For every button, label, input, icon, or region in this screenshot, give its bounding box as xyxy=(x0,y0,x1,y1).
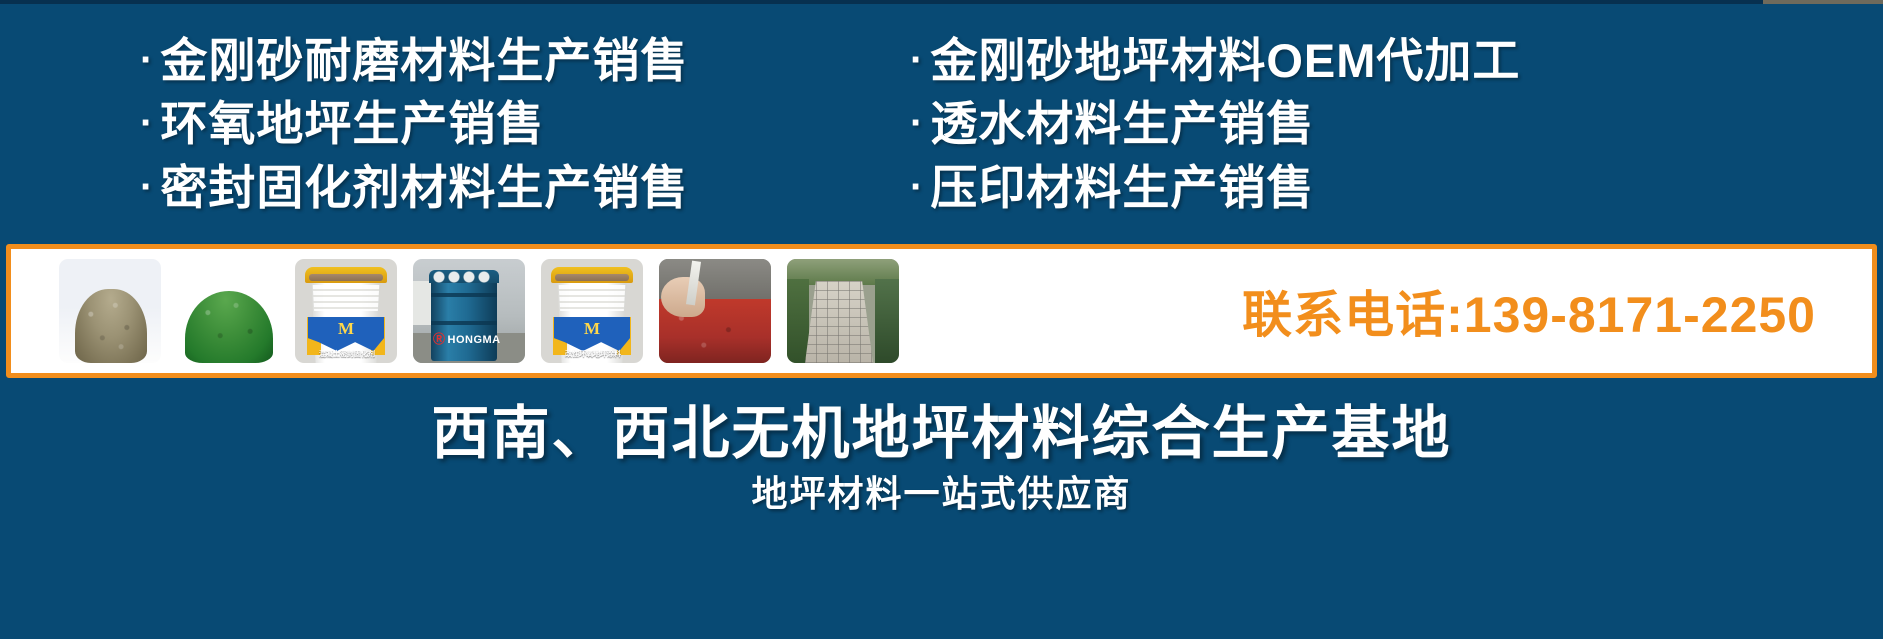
bullet-dot-icon: · xyxy=(910,40,924,80)
service-item-4: · 金刚砂地坪材料OEM代加工 xyxy=(910,32,1770,89)
bullet-dot-icon: · xyxy=(140,103,154,143)
pail-label-text: 改性环氧地坪涂料 xyxy=(553,349,633,359)
footer-subline: 地坪材料一站式供应商 xyxy=(0,465,1883,517)
services-section: · 金刚砂耐磨材料生产销售 · 环氧地坪生产销售 · 密封固化剂材料生产销售 ·… xyxy=(0,32,1883,238)
product-thumb-white-pail-sealer: M 混凝土密封固化剂 xyxy=(295,259,397,363)
services-right-column: · 金刚砂地坪材料OEM代加工 · 透水材料生产销售 · 压印材料生产销售 xyxy=(910,32,1770,216)
bullet-dot-icon: · xyxy=(140,167,154,207)
bullet-dot-icon: · xyxy=(910,103,924,143)
service-item-5: · 透水材料生产销售 xyxy=(910,95,1770,152)
drum-brand-name: HONGMA xyxy=(448,334,501,346)
product-thumb-blue-drum: ⓇHONGMA xyxy=(413,259,525,363)
product-strip: M 混凝土密封固化剂 ⓇHONGMA xyxy=(6,244,1877,378)
service-label: 密封固化剂材料生产销售 xyxy=(160,159,688,216)
brand-mark-icon: M xyxy=(308,319,384,339)
service-label: 环氧地坪生产销售 xyxy=(160,95,544,152)
product-thumb-red-permeable-paving xyxy=(659,259,771,363)
service-item-6: · 压印材料生产销售 xyxy=(910,159,1770,216)
service-label: 金刚砂地坪材料OEM代加工 xyxy=(930,32,1520,89)
contact-phone[interactable]: 联系电话:139-8171-2250 xyxy=(1242,275,1816,347)
product-thumb-green-abrasive-powder xyxy=(177,259,279,363)
product-thumb-grey-abrasive-powder xyxy=(59,259,161,363)
brand-mark-icon: M xyxy=(554,319,630,339)
worker-hand xyxy=(661,277,705,317)
services-left-column: · 金刚砂耐磨材料生产销售 · 环氧地坪生产销售 · 密封固化剂材料生产销售 xyxy=(140,32,900,216)
path-grass-left xyxy=(787,279,809,363)
product-thumb-white-pail-epoxy: M 改性环氧地坪涂料 xyxy=(541,259,643,363)
drum-body xyxy=(431,275,497,361)
pail-rings xyxy=(555,285,629,311)
powder-heap-icon xyxy=(75,289,147,363)
bullet-dot-icon: · xyxy=(910,167,924,207)
service-item-3: · 密封固化剂材料生产销售 xyxy=(140,159,900,216)
service-item-2: · 环氧地坪生产销售 xyxy=(140,95,900,152)
registered-mark-icon: Ⓡ xyxy=(433,332,446,346)
product-thumbnail-list: M 混凝土密封固化剂 ⓇHONGMA xyxy=(59,259,899,363)
path-grass-right xyxy=(875,279,899,363)
top-edge-highlight xyxy=(1763,0,1883,4)
service-label: 压印材料生产销售 xyxy=(930,159,1314,216)
pail-lid xyxy=(305,267,387,283)
pail-rings xyxy=(309,285,383,311)
drum-brand-text: ⓇHONGMA xyxy=(433,330,519,347)
top-edge-line xyxy=(0,0,1883,4)
drum-crown-clamps xyxy=(429,270,499,283)
pail-label-text: 混凝土密封固化剂 xyxy=(307,349,387,359)
footer-headline: 西南、西北无机地坪材料综合生产基地 xyxy=(0,386,1883,470)
service-label: 金刚砂耐磨材料生产销售 xyxy=(160,32,688,89)
powder-heap-icon xyxy=(185,291,273,363)
service-label: 透水材料生产销售 xyxy=(930,95,1314,152)
stamped-paver-walkway xyxy=(805,281,873,363)
drum-ring-upper xyxy=(431,293,497,297)
drum-ring-lower xyxy=(431,321,497,325)
bullet-dot-icon: · xyxy=(140,40,154,80)
promo-banner: · 金刚砂耐磨材料生产销售 · 环氧地坪生产销售 · 密封固化剂材料生产销售 ·… xyxy=(0,0,1883,639)
service-item-1: · 金刚砂耐磨材料生产销售 xyxy=(140,32,900,89)
pail-lid xyxy=(551,267,633,283)
product-thumb-stamped-concrete-path xyxy=(787,259,899,363)
